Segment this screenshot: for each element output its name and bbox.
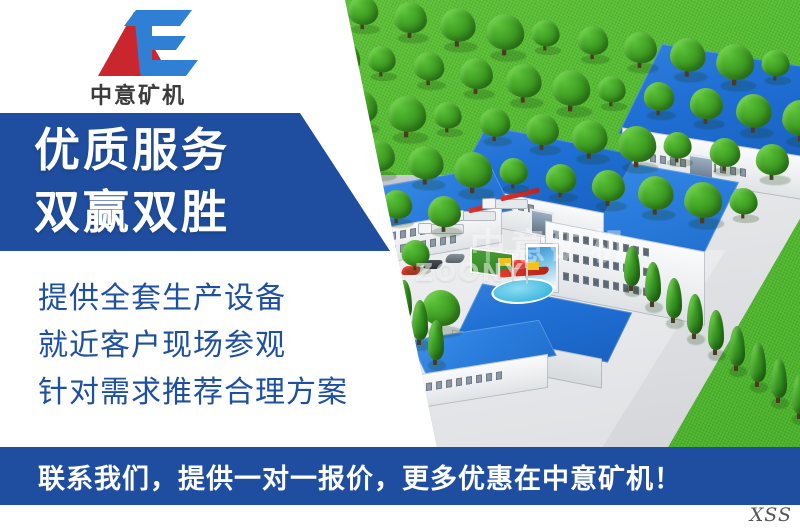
window [660, 155, 666, 164]
tree-shadow [535, 47, 562, 56]
window [563, 272, 569, 281]
window [613, 262, 619, 271]
tree-crown [618, 126, 656, 162]
tree-shadow [581, 55, 610, 64]
tree-shadow [688, 218, 724, 230]
tree-shadow [464, 89, 495, 99]
window [573, 274, 579, 283]
tree-crown [638, 176, 674, 210]
tree-shadow [346, 124, 380, 135]
tree-shadow [417, 81, 446, 90]
tree-shadow [366, 171, 397, 181]
logo-company-name: 中意矿机 [58, 78, 218, 110]
tree-shadow [385, 219, 414, 228]
tree-crown [624, 32, 657, 63]
window [583, 236, 589, 245]
tree-shadow [624, 286, 642, 297]
headline-line-1: 优质服务 [34, 119, 334, 181]
tree-trunk [357, 117, 361, 129]
window [430, 238, 436, 247]
tree-shadow [771, 398, 789, 409]
headline-text: 优质服务 双赢双胜 [34, 119, 334, 243]
window [563, 252, 569, 261]
feature-item-2: 就近客户现场参观 [38, 322, 438, 369]
window [440, 237, 446, 246]
headline-line-2: 双赢双胜 [34, 181, 334, 243]
window [643, 247, 649, 256]
tree-shadow [458, 188, 494, 200]
tree-shadow [733, 215, 760, 224]
tree-shadow [405, 267, 432, 276]
tree-crown [342, 90, 378, 124]
truck-body [462, 211, 496, 221]
window [583, 276, 589, 285]
truck-cab [482, 198, 496, 209]
window [410, 228, 416, 237]
tree-crown [322, 40, 360, 76]
tree-shadow [765, 77, 792, 86]
tree-crown [572, 120, 608, 154]
tree-shadow [687, 334, 705, 345]
tree-shadow [549, 193, 578, 202]
tree-shadow [483, 137, 512, 146]
tree-shadow [503, 185, 530, 194]
flag [528, 262, 539, 270]
tree-crown [348, 0, 379, 25]
tree-crown [414, 52, 445, 81]
flag [500, 258, 511, 266]
window [563, 232, 569, 241]
tree-shadow [530, 145, 561, 155]
tree-shadow [432, 227, 463, 237]
tree-shadow [596, 201, 627, 211]
tree-crown [486, 14, 524, 50]
tree-shadow [708, 350, 726, 361]
tree-crown [408, 146, 444, 180]
tree-shadow [351, 25, 380, 34]
window [446, 379, 452, 388]
tree-crown [736, 94, 772, 128]
truck-cab [418, 223, 432, 234]
tree-crown [598, 76, 626, 103]
tree-crown [440, 8, 476, 42]
window [553, 230, 559, 239]
tree-shadow [576, 154, 610, 165]
tree-crown [368, 46, 396, 73]
tree-shadow [740, 128, 774, 139]
logo-mark-icon [52, 8, 222, 80]
tree-shadow [729, 366, 747, 377]
window [593, 278, 599, 287]
tree-crown [434, 102, 462, 129]
window [390, 231, 396, 240]
tree-shadow [371, 73, 398, 82]
window [496, 371, 502, 380]
tree-crown [388, 96, 426, 132]
window [573, 254, 579, 263]
window [400, 230, 406, 239]
feature-list: 提供全套生产设备 就近客户现场参观 针对需求推荐合理方案 [38, 275, 438, 416]
corner-watermark: XSS [750, 504, 792, 526]
tree-trunk [376, 165, 380, 176]
tree-crown [684, 182, 722, 218]
promo-banner: 中意矿机ZOONY 中意矿机 优质服务 双赢双胜 提供全套生产设备 就近客户现场… [0, 0, 800, 530]
tree-crown [454, 152, 492, 188]
tree-crown [756, 144, 789, 175]
tree-crown [552, 70, 590, 106]
tree-crown [716, 44, 754, 80]
tree-crown [526, 114, 559, 145]
window [390, 245, 396, 254]
contact-cta-text: 联系我们，提供一对一报价，更多优惠在中意矿机！ [38, 457, 682, 496]
tree-shadow [713, 167, 742, 176]
window [613, 282, 619, 291]
tree-crown [394, 2, 427, 33]
tree-shadow [645, 302, 663, 313]
feature-item-3: 针对需求推荐合理方案 [38, 369, 438, 416]
contact-cta-bar[interactable]: 联系我们，提供一对一报价，更多优惠在中意矿机！ [0, 447, 800, 505]
tree-crown [506, 64, 542, 98]
tree-crown [546, 164, 577, 193]
window [603, 260, 609, 269]
tree-crown [302, 0, 330, 17]
tree-crown [460, 58, 493, 89]
flag [514, 260, 525, 268]
company-logo: 中意矿机 [52, 8, 222, 113]
tree-crown [670, 38, 706, 72]
tree-shadow [444, 42, 478, 53]
window [583, 256, 589, 265]
tree-shadow [392, 132, 428, 144]
window [456, 377, 462, 386]
tree-crown [500, 158, 528, 185]
tree-crown [710, 138, 741, 167]
tree-shadow [601, 103, 628, 112]
tree-crown [382, 190, 413, 219]
tree-crown [592, 170, 625, 201]
window [466, 376, 472, 385]
window [476, 374, 482, 383]
window [613, 242, 619, 251]
window [593, 258, 599, 267]
tree-shadow [412, 180, 446, 191]
window [603, 280, 609, 289]
tree-crown [362, 140, 395, 171]
window [593, 238, 599, 247]
tree-shadow [642, 210, 676, 221]
tree-crown [690, 88, 723, 119]
window [603, 240, 609, 249]
tree-crown [730, 188, 758, 215]
tree-shadow [326, 76, 362, 88]
tree-crown [578, 26, 609, 55]
tree-crown [664, 132, 692, 159]
tree-crown [644, 82, 675, 111]
feature-item-1: 提供全套生产设备 [38, 275, 438, 322]
tree-shadow [720, 80, 756, 92]
tree-shadow [305, 17, 332, 26]
tree-crown [480, 108, 511, 137]
tree-shadow [667, 159, 694, 168]
tree-trunk [338, 69, 342, 82]
tree-shadow [398, 33, 429, 43]
tree-shadow [628, 63, 659, 73]
tree-shadow [556, 106, 592, 118]
tree-shadow [490, 50, 526, 62]
tree-shadow [510, 98, 544, 109]
tree-crown [762, 50, 790, 77]
tree-shadow [622, 162, 658, 174]
tree-trunk [313, 11, 316, 20]
truck-body [494, 199, 528, 209]
window [486, 373, 492, 382]
window [573, 234, 579, 243]
tree-crown [402, 240, 430, 267]
tree-crown [532, 20, 560, 47]
tree-shadow [694, 119, 725, 129]
tree-shadow [437, 129, 464, 138]
tree-shadow [760, 175, 791, 185]
tree-shadow [750, 382, 768, 393]
tree-shadow [647, 111, 676, 120]
tree-crown [428, 196, 461, 227]
tree-shadow [666, 318, 684, 329]
tree-shadow [674, 72, 708, 83]
